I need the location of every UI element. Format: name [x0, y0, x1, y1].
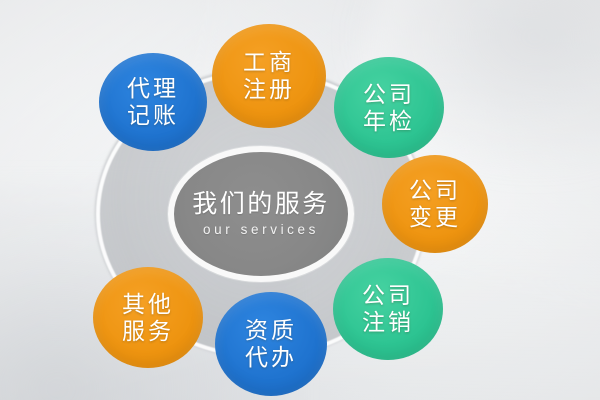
center-hub: 我们的服务 our services [168, 146, 354, 282]
service-bubble-qita-fuwu[interactable]: 其他 服务 [93, 267, 203, 368]
service-label-line1: 公司 [409, 178, 461, 203]
service-bubble-gongsi-nianjian[interactable]: 公司 年检 [334, 57, 444, 158]
service-label-line1: 公司 [362, 283, 414, 308]
service-label-line2: 代办 [245, 345, 297, 370]
service-label-line1: 代理 [127, 76, 179, 101]
service-label-line2: 记账 [127, 103, 179, 128]
center-title-cn: 我们的服务 [192, 191, 330, 217]
service-bubble-gongsi-biangeng[interactable]: 公司 变更 [382, 155, 488, 253]
service-label-line1: 资质 [245, 318, 297, 343]
service-label-line2: 年检 [363, 109, 415, 134]
service-label-line1: 其他 [122, 292, 174, 317]
service-label-line2: 注册 [243, 77, 295, 102]
service-label-line1: 工商 [243, 50, 295, 75]
service-bubble-gongsi-zhuxiao[interactable]: 公司 注销 [333, 258, 443, 360]
service-label-line2: 服务 [122, 319, 174, 344]
service-label-line1: 公司 [363, 82, 415, 107]
service-bubble-daili-jizhang[interactable]: 代理 记账 [99, 53, 207, 151]
service-bubble-gongshang-zhuce[interactable]: 工商 注册 [212, 24, 326, 128]
service-label-line2: 注销 [362, 310, 414, 335]
service-wheel-infographic: 我们的服务 our services 代理 记账 工商 注册 公司 年检 公司 … [0, 0, 600, 400]
service-label-line2: 变更 [409, 205, 461, 230]
service-bubble-zizhi-daiban[interactable]: 资质 代办 [215, 292, 327, 396]
center-title-en: our services [203, 222, 319, 237]
